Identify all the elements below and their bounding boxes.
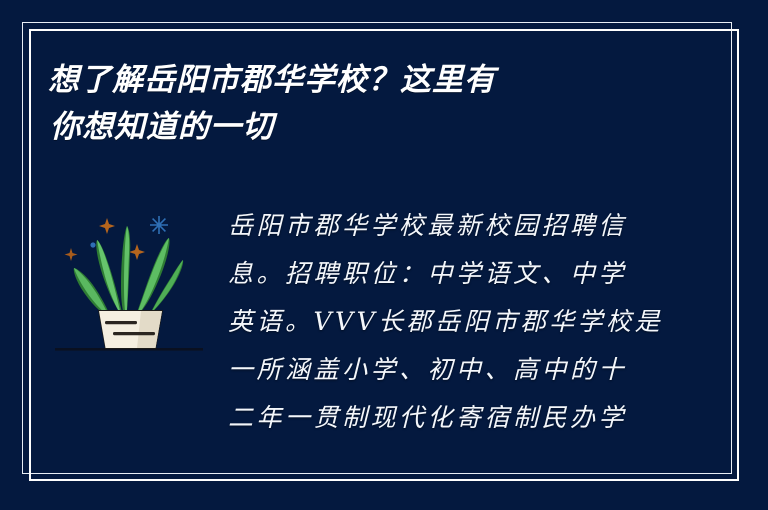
page-title: 想了解岳阳市郡华学校？这里有 你想知道的一切 (48, 56, 648, 150)
content-row: 岳阳市郡华学校最新校园招聘信 息。招聘职位：中学语文、中学 英语。VVV长郡岳阳… (0, 196, 768, 466)
body-line: 一所涵盖小学、初中、高中的十 (228, 346, 658, 394)
plant-leaves (74, 226, 183, 319)
sparkle-dot-icon (90, 242, 95, 247)
body-line: 英语。VVV长郡岳阳市郡华学校是 (228, 298, 658, 346)
potted-plant-illustration (55, 196, 205, 371)
title-line-1: 想了解岳阳市郡华学校？这里有 (48, 56, 648, 103)
sparkle-star-icon (99, 218, 115, 234)
snowflake-icon (150, 216, 168, 234)
body-line: 息。招聘职位：中学语文、中学 (228, 250, 658, 298)
poster-canvas: 想了解岳阳市郡华学校？这里有 你想知道的一切 (0, 0, 768, 510)
sparkle-star-icon (65, 248, 78, 261)
body-line: 岳阳市郡华学校最新校园招聘信 (228, 202, 658, 250)
sparkle-group (65, 216, 169, 261)
body-line: 二年一贯制现代化寄宿制民办学 (228, 394, 658, 442)
title-line-2: 你想知道的一切 (48, 103, 648, 150)
sparkle-star-icon (129, 244, 145, 260)
flower-pot (98, 310, 163, 349)
body-paragraph: 岳阳市郡华学校最新校园招聘信 息。招聘职位：中学语文、中学 英语。VVV长郡岳阳… (228, 202, 658, 442)
